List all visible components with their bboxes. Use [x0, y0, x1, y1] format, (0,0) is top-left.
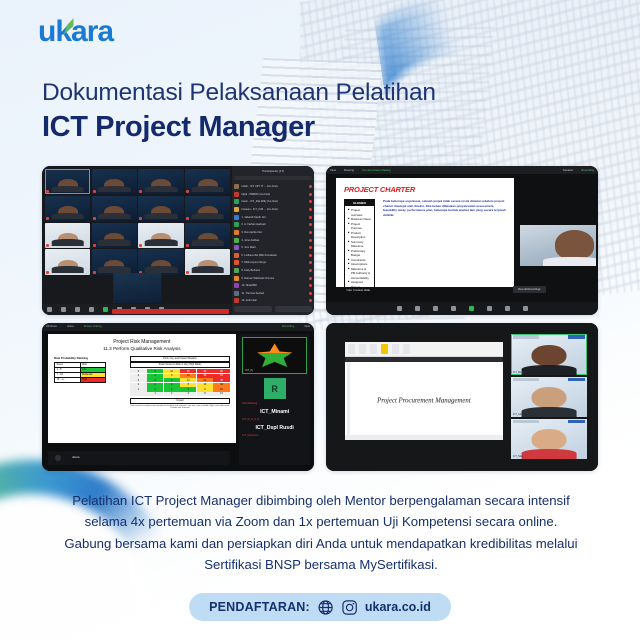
participant-row[interactable]: 6. Lutfiana dwi Rifki Kurniawan	[234, 252, 312, 258]
screenshot-gallery: Participants (17) Indah - ICT UPT IT ...…	[42, 166, 598, 471]
participant-name: Imam - ICT_Dwi Willy (Co-host)	[241, 200, 277, 203]
gallery-item-project-charter[interactable]: View Meeting You are screen sharing Spea…	[326, 166, 598, 315]
participant-name: ICT_CI_O_O_S	[242, 418, 307, 421]
mic-muted-icon	[309, 200, 312, 203]
matrix-cell: 64	[213, 374, 229, 378]
participant-name: 12. Anik Intan	[241, 299, 257, 302]
document-page: Project Procurement Management	[345, 362, 503, 439]
mic-muted-icon	[309, 246, 312, 249]
window-title: Windows	[46, 325, 57, 328]
participant-row[interactable]: 11. Thomas Sentadi	[234, 290, 312, 296]
participants-search-input[interactable]	[234, 176, 312, 181]
recording-status: Recording	[581, 168, 594, 172]
video-tile	[45, 223, 90, 248]
charter-paragraph: Pada beberapa organisasi, sebuah projek …	[383, 199, 506, 287]
matrix-cell: 8	[180, 383, 196, 387]
list-item: Milestone & PM Authority & Accountabilit…	[348, 267, 371, 281]
participants-panel-footer[interactable]	[234, 306, 312, 312]
slide-risk-management: Project Risk Management 11.3 Perform Qua…	[48, 334, 236, 444]
page-subtitle: Dokumentasi Pelaksanaan Pelatihan	[42, 78, 436, 107]
mic-muted-icon	[309, 208, 312, 211]
legend-cell: 18 - ++	[55, 378, 81, 382]
video-tile	[92, 249, 137, 274]
list-item: Preliminary Budget	[348, 249, 371, 258]
participants-panel[interactable]: Participants (17) Indah - ICT UPT IT ...…	[232, 166, 314, 315]
video-tile	[92, 196, 137, 221]
mic-icon[interactable]	[397, 306, 402, 311]
avatar	[55, 455, 61, 461]
shared-screen-stage: PROJECT CHARTER ELEMEN Project overview …	[336, 174, 598, 301]
video-tile: ICT_Nisa	[511, 419, 587, 459]
matrix-cell: 8	[164, 374, 180, 378]
participant-row[interactable]: 1. Jabandi Sandi Jori	[234, 214, 312, 220]
video-tile	[138, 223, 183, 248]
matrix-cell: 2	[130, 383, 146, 387]
matrix-cell: 4	[147, 374, 163, 378]
participant-name: Iqbal - PMBOK (Co-host)	[241, 193, 270, 196]
matrix-cell: 48	[213, 378, 229, 382]
reactions-icon[interactable]	[451, 306, 456, 311]
list-item: Assigned Project Manager	[348, 280, 371, 287]
video-tile	[185, 169, 230, 194]
mic-muted-icon	[309, 284, 312, 287]
legend-cell: 1 - 5	[55, 368, 81, 372]
video-tile	[113, 273, 161, 303]
matrix-cell: 24	[197, 378, 213, 382]
participant-name: 11. Thomas Sentadi	[241, 292, 264, 295]
participant-row[interactable]: 12. Anik Intan	[234, 298, 312, 304]
statusbar-label: ukara	[72, 455, 80, 459]
recording-status: Recording	[282, 325, 294, 328]
video-tile	[92, 223, 137, 248]
registration-label: PENDAFTARAN:	[209, 600, 310, 614]
avatar: R	[264, 378, 286, 399]
zoom-share-topbar[interactable]: Windows ukara Screen sharing Recording V…	[42, 323, 314, 331]
ruler	[347, 362, 350, 439]
participant-row[interactable]: 7. Mitha Ayuna Ningsi	[234, 260, 312, 266]
matrix-cell: 5	[130, 369, 146, 373]
matrix-cell: 1	[130, 387, 146, 391]
poster-canvas: ukara Dokumentasi Pelaksanaan Pelatihan …	[0, 0, 640, 640]
matrix-cell: 3	[130, 378, 146, 382]
styles-icon[interactable]	[381, 344, 388, 355]
video-tile	[138, 169, 183, 194]
share-screen-icon[interactable]	[469, 306, 474, 311]
registration-pill[interactable]: PENDAFTARAN: ukara.co.id	[189, 593, 451, 621]
globe-icon[interactable]	[317, 599, 334, 616]
participant-row[interactable]: 9. Daimar Wahtwati Cinnona	[234, 275, 312, 281]
view-mode-label: View	[304, 325, 310, 328]
presenter-camera	[520, 225, 596, 267]
avatar	[234, 283, 239, 288]
page-title: ICT Project Manager	[42, 111, 436, 144]
mic-muted-icon	[309, 292, 312, 295]
participant-name: ICT_Nisa	[513, 455, 523, 458]
participant-row[interactable]: 10. Ninaz808	[234, 283, 312, 289]
legend-cell: Score	[55, 363, 81, 367]
participant-name: ICT_DsplUsers	[242, 434, 307, 437]
matrix-cell: 16	[180, 374, 196, 378]
participant-name: 3. Dwi Aprilia Cleo	[241, 231, 262, 234]
video-tile	[45, 169, 90, 194]
brand-logo[interactable]: ukara	[38, 17, 113, 47]
more-icon[interactable]	[523, 306, 528, 311]
matrix-cell: 2	[164, 392, 180, 396]
participant-camera-strip: ICT_Minami ICT_Adi ICT_Nisa	[511, 334, 587, 459]
video-tile	[138, 249, 183, 274]
list-item: Project overview	[348, 208, 371, 217]
record-icon[interactable]	[505, 306, 510, 311]
paste-icon[interactable]	[348, 344, 355, 355]
participant-row[interactable]: Imawan - ICT_ICM ... (Co-host)	[234, 207, 312, 213]
document-ribbon[interactable]	[345, 342, 503, 358]
mic-muted-icon	[309, 231, 312, 234]
matrix-cell: 20	[180, 369, 196, 373]
video-tile	[138, 196, 183, 221]
risk-heatmap-grid: 5510204080 448163264 336122448 22481632 …	[130, 369, 229, 396]
instagram-icon[interactable]	[341, 599, 358, 616]
participant-name: ICT_Minami	[242, 409, 307, 415]
legend-cell: 7 - 16	[55, 373, 81, 377]
font-icon[interactable]	[359, 344, 366, 355]
matrix-cell: 4	[180, 387, 196, 391]
header-block: Dokumentasi Pelaksanaan Pelatihan ICT Pr…	[42, 78, 436, 145]
matrix-axis-label: Impact	[130, 398, 229, 404]
avatar	[234, 238, 239, 243]
matrix-cell: 4	[164, 383, 180, 387]
avatar	[234, 230, 239, 235]
mic-muted-icon	[309, 185, 312, 188]
avatar	[234, 260, 239, 265]
avatar	[234, 245, 239, 250]
avatar	[234, 276, 239, 281]
participants-icon[interactable]	[433, 306, 438, 311]
toolbar-tooltip: View all Recordings	[513, 286, 546, 293]
mic-muted-icon	[309, 239, 312, 242]
participant-name: 7. Mitha Ayuna Ningsi	[241, 261, 266, 264]
zoom-share-topbar[interactable]: View Meeting You are screen sharing Spea…	[326, 166, 598, 174]
document-heading: Project Procurement Management	[377, 398, 471, 405]
chat-icon[interactable]	[487, 306, 492, 311]
video-tile	[45, 196, 90, 221]
avatar	[234, 253, 239, 258]
organization-logo-icon	[257, 344, 292, 368]
avatar	[234, 199, 239, 204]
video-tile	[92, 169, 137, 194]
camera-icon[interactable]	[415, 306, 420, 311]
mic-muted-icon	[309, 269, 312, 272]
matrix-cell: 12	[180, 378, 196, 382]
video-tile	[185, 223, 230, 248]
mic-muted-icon	[309, 254, 312, 257]
matrix-cell: 4	[130, 374, 146, 378]
avatar	[234, 268, 239, 273]
mic-muted-icon	[309, 299, 312, 302]
slide-title: PROJECT CHARTER	[344, 185, 506, 194]
matrix-cell: 16	[197, 383, 213, 387]
participant-name: 5. Jum Marti	[241, 246, 255, 249]
gallery-item-zoom-gallery[interactable]: Participants (17) Indah - ICT UPT IT ...…	[42, 166, 314, 315]
leave-meeting-bar[interactable]	[112, 309, 228, 314]
zoom-video-area	[42, 166, 232, 315]
avatar	[234, 222, 239, 227]
paragraph-icon[interactable]	[370, 344, 377, 355]
avatar	[234, 298, 239, 303]
mic-muted-icon	[309, 277, 312, 280]
participant-name: 9. Daimar Wahtwati Cinnona	[241, 277, 274, 280]
participant-row[interactable]: Indah - ICT UPT IT ... (Co-host)	[234, 184, 312, 190]
matrix-cell: 4	[180, 392, 196, 396]
speaker-label: Speaker	[563, 168, 573, 172]
participant-name: ICT_Adi	[513, 413, 522, 416]
mic-muted-icon	[309, 216, 312, 219]
participant-name: ICT_Minami	[513, 371, 526, 374]
body-paragraph: Pelatihan ICT Project Manager dibimbing …	[62, 490, 580, 576]
share-caption: Can I review slide	[346, 288, 370, 292]
participants-sidebar[interactable]: ICT_Uj R Dwin Ranking ICT_Minami ICT_CI_…	[239, 334, 310, 466]
list-item: Product Description	[348, 231, 371, 240]
participant-name: ICT_Uj	[245, 369, 252, 372]
list-item: Summary Milestone	[348, 240, 371, 249]
legend-cell: High	[81, 378, 106, 382]
view-label: ukara	[67, 325, 74, 328]
participant-row[interactable]: 5. Jum Marti	[234, 245, 312, 251]
screen-sharing-status: Screen sharing	[84, 325, 102, 328]
matrix-cell: 32	[213, 383, 229, 387]
participant-name: Imawan - ICT_ICM ... (Co-host)	[241, 208, 277, 211]
camera-icon[interactable]	[61, 307, 66, 312]
matrix-cell: 8	[197, 392, 213, 396]
participant-name: 10. Ninaz808	[241, 284, 256, 287]
participant-name: 1. Jabandi Sandi Jori	[241, 216, 265, 219]
mic-muted-icon	[309, 193, 312, 196]
matrix-cell: 2	[164, 387, 180, 391]
registration-url[interactable]: ukara.co.id	[365, 600, 431, 614]
legend-cell: Low	[81, 368, 106, 372]
participant-row[interactable]: 2. A. Farhan Hadiyah	[234, 222, 312, 228]
risk-score-legend: ScoreRisk 1 - 5Low 7 - 16Moderate 18 - +…	[54, 362, 106, 383]
slide-project-charter: PROJECT CHARTER ELEMEN Project overview …	[336, 178, 514, 287]
matrix-caption-2: Scale Scores to Risk in Very High Matrix	[130, 362, 229, 368]
participant-row[interactable]: 4. Jono Anditas	[234, 237, 312, 243]
zoom-participant-tiles	[45, 169, 230, 275]
participant-row[interactable]: Imam - ICT_Dwi Willy (Co-host)	[234, 199, 312, 205]
document-statusbar	[345, 435, 503, 440]
participant-name: Indah - ICT UPT IT ... (Co-host)	[241, 185, 277, 188]
participant-name: 6. Lutfiana dwi Rifki Kurniawan	[241, 254, 276, 257]
matrix-cell: 16	[213, 387, 229, 391]
matrix-cell: 32	[197, 374, 213, 378]
slide-title: Project Risk Management	[54, 339, 230, 345]
matrix-cell	[130, 392, 146, 396]
participant-row[interactable]: 3. Dwi Aprilia Cleo	[234, 229, 312, 235]
list-item: Project Purpose	[348, 222, 371, 231]
participant-name: 2. A. Farhan Hadiyah	[241, 223, 265, 226]
matrix-cell: 8	[197, 387, 213, 391]
matrix-note: Data used to visualize matrix iteration …	[130, 405, 229, 409]
mute-all-button[interactable]	[275, 306, 312, 312]
help-icon[interactable]	[403, 344, 410, 355]
participant-name: ICT_Dspl Rusdi	[242, 425, 307, 431]
screen-sharing-status: You are screen sharing	[362, 168, 391, 172]
zoom-toolbar[interactable]	[42, 304, 232, 315]
charter-element-table: ELEMEN Project overview Business Need Pr…	[344, 199, 375, 287]
zoom-toolbar[interactable]	[326, 302, 598, 315]
participant-name: 4. Jono Anditas	[241, 239, 259, 242]
video-tile: ICT_Minami	[511, 334, 587, 374]
share-screen-icon[interactable]	[103, 307, 108, 312]
security-icon[interactable]	[75, 307, 80, 312]
gallery-item-procurement-doc[interactable]: Project Procurement Management ICT_Minam…	[326, 323, 598, 472]
participant-row[interactable]: 8. Kelly Budiarto	[234, 267, 312, 273]
matrix-cell: 16	[213, 392, 229, 396]
zoom-bottom-strip: ukara	[48, 451, 230, 465]
editing-icon[interactable]	[392, 344, 399, 355]
matrix-cell: 5	[147, 369, 163, 373]
slide-subtitle: 11.3 Perform Qualitative Risk Analysis	[54, 346, 230, 351]
mic-muted-icon	[309, 223, 312, 226]
video-tile: ICT_Uj	[242, 337, 307, 375]
mic-icon[interactable]	[47, 307, 52, 312]
reactions-icon[interactable]	[89, 307, 94, 312]
matrix-cell: 6	[164, 378, 180, 382]
avatar	[234, 207, 239, 212]
gallery-item-risk-matrix[interactable]: Windows ukara Screen sharing Recording V…	[42, 323, 314, 472]
matrix-cell: 2	[147, 383, 163, 387]
avatar	[234, 184, 239, 189]
legend-cell: Moderate	[81, 373, 106, 377]
matrix-cell: 40	[197, 369, 213, 373]
avatar	[234, 215, 239, 220]
participant-name: 8. Kelly Budiarto	[241, 269, 260, 272]
mic-muted-icon	[309, 261, 312, 264]
probability-ranking-label: Risk Probability Ranking	[54, 356, 124, 360]
video-tile: ICT_Adi	[511, 377, 587, 417]
avatar	[234, 192, 239, 197]
brand-logo-text: ukara	[38, 15, 113, 48]
avatar	[234, 291, 239, 296]
matrix-cell: 80	[213, 369, 229, 373]
participants-panel-title: Participants (17)	[234, 169, 312, 173]
participant-name: Dwin Ranking	[242, 402, 307, 405]
matrix-cell: 1	[147, 392, 163, 396]
matrix-cell: 10	[164, 369, 180, 373]
matrix-cell: 1	[147, 387, 163, 391]
video-tile	[185, 249, 230, 274]
legend-cell: Risk	[81, 363, 106, 367]
participant-row[interactable]: Iqbal - PMBOK (Co-host)	[234, 191, 312, 197]
shared-word-document: Project Procurement Management	[345, 342, 503, 440]
meeting-id-label: Meeting	[344, 168, 354, 172]
video-tile	[185, 196, 230, 221]
video-tile	[45, 249, 90, 274]
view-label: View	[330, 168, 336, 172]
invite-button[interactable]	[234, 306, 271, 312]
matrix-cell: 3	[147, 378, 163, 382]
